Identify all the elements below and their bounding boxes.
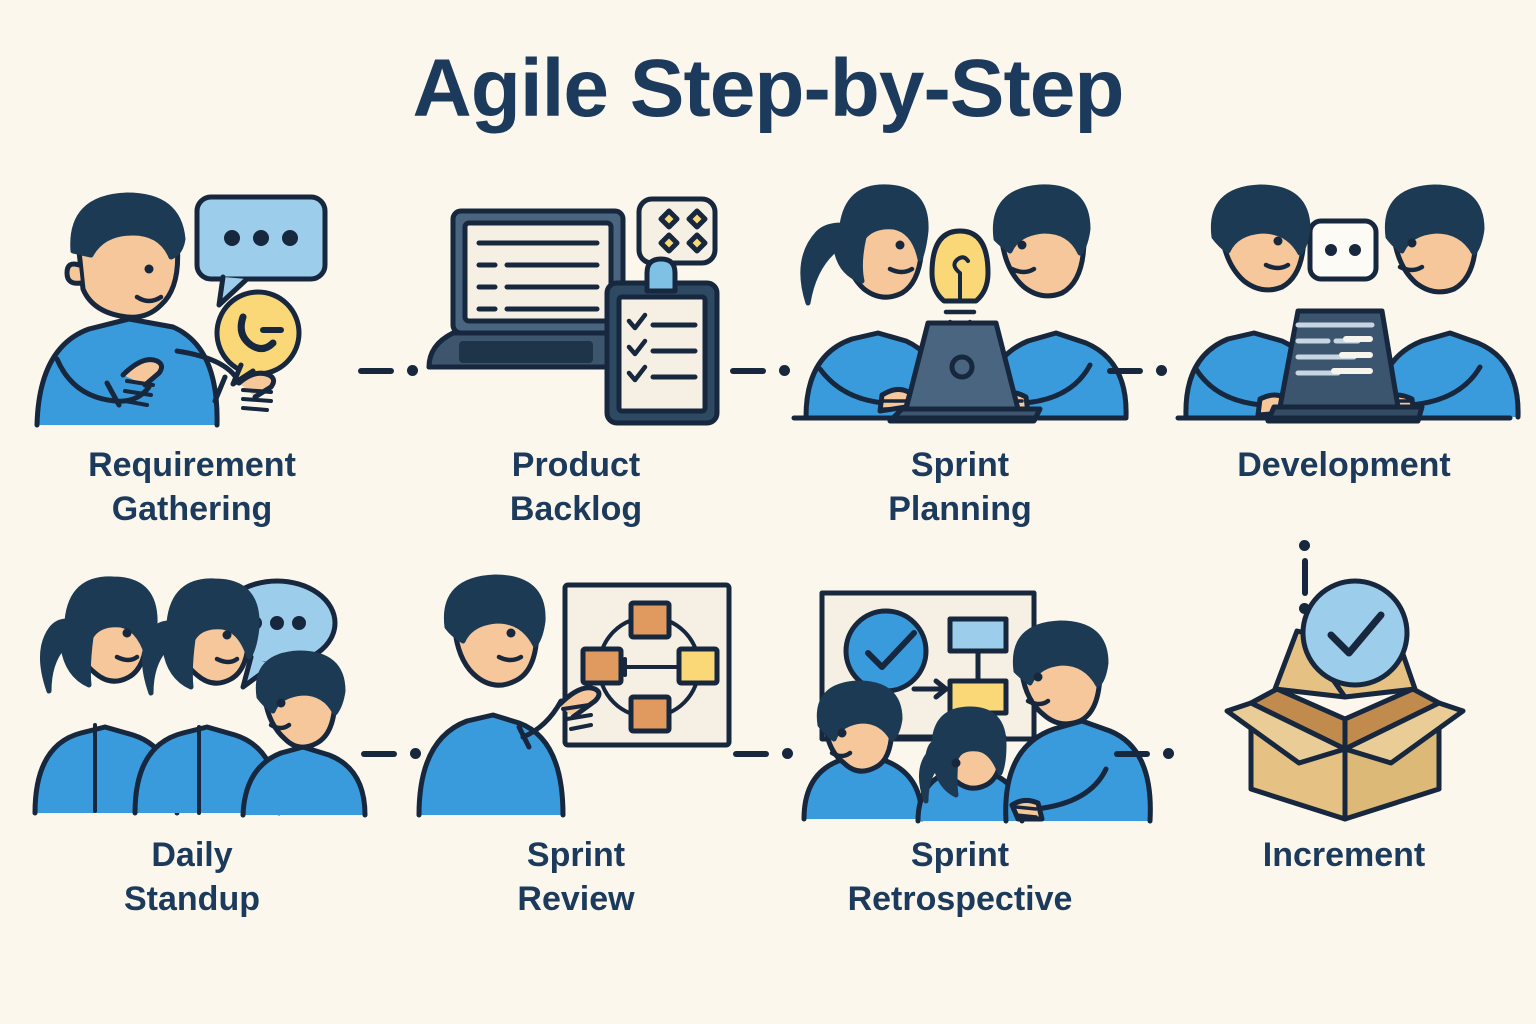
connector-dot — [410, 748, 421, 759]
step-sprint-planning[interactable]: Sprint Planning — [768, 185, 1152, 585]
step-label: Product Backlog — [510, 444, 642, 531]
check-badge-icon — [1303, 581, 1407, 685]
product-backlog-illustration — [406, 185, 746, 430]
connector-dot — [779, 365, 790, 376]
requirement-gathering-illustration — [22, 185, 362, 430]
connector-5-to-6 — [361, 748, 421, 759]
connector-dash — [733, 751, 769, 757]
step-label: Sprint Review — [517, 834, 634, 921]
step-label: Daily Standup — [124, 834, 260, 921]
connector-1-to-2 — [358, 365, 418, 376]
connector-2-to-3 — [730, 365, 790, 376]
page-title: Agile Step-by-Step — [0, 48, 1536, 130]
step-label: Sprint Planning — [888, 444, 1032, 531]
step-sprint-retrospective[interactable]: Sprint Retrospective — [768, 575, 1152, 975]
lightbulb-icon — [932, 231, 988, 325]
chat-bubble-icon — [197, 197, 325, 305]
increment-illustration — [1174, 575, 1514, 820]
connector-dash — [361, 751, 397, 757]
sprint-planning-illustration — [790, 185, 1130, 430]
steps-row-top: Requirement Gathering — [0, 185, 1536, 585]
connector-dot — [782, 748, 793, 759]
step-requirement-gathering[interactable]: Requirement Gathering — [0, 185, 384, 585]
step-sprint-review[interactable]: Sprint Review — [384, 575, 768, 975]
daily-standup-illustration — [22, 575, 362, 820]
connector-3-to-4 — [1107, 365, 1167, 376]
step-product-backlog[interactable]: Product Backlog — [384, 185, 768, 585]
step-label: Sprint Retrospective — [848, 834, 1073, 921]
connector-bar — [1302, 558, 1308, 596]
sprint-review-illustration — [406, 575, 746, 820]
step-increment[interactable]: Increment — [1152, 575, 1536, 975]
connector-dash — [1107, 368, 1143, 374]
step-label: Increment — [1263, 834, 1426, 878]
connector-7-to-8 — [1114, 748, 1174, 759]
chat-box-icon — [1310, 221, 1376, 279]
connector-dot — [1299, 540, 1310, 551]
developer-right — [1378, 187, 1518, 417]
connector-6-to-7 — [733, 748, 793, 759]
connector-dot — [1299, 603, 1310, 614]
infographic-canvas: Agile Step-by-Step — [0, 0, 1536, 1024]
step-label: Requirement Gathering — [88, 444, 296, 531]
step-daily-standup[interactable]: Daily Standup — [0, 575, 384, 975]
step-development[interactable]: Development — [1152, 185, 1536, 585]
story-points-card-icon — [639, 199, 715, 263]
standup-person-3 — [243, 653, 365, 815]
connector-dash — [1114, 751, 1150, 757]
step-label: Development — [1237, 444, 1451, 488]
connector-4-to-8-wrap — [1299, 540, 1310, 614]
connector-dot — [1163, 748, 1174, 759]
connector-dot — [407, 365, 418, 376]
review-board-icon — [565, 585, 729, 745]
clipboard-checklist-icon — [607, 259, 717, 423]
connector-dash — [730, 368, 766, 374]
development-illustration — [1174, 185, 1514, 430]
connector-dash — [358, 368, 394, 374]
sprint-retrospective-illustration — [790, 575, 1130, 820]
connector-dot — [1156, 365, 1167, 376]
steps-row-bottom: Daily Standup — [0, 575, 1536, 975]
